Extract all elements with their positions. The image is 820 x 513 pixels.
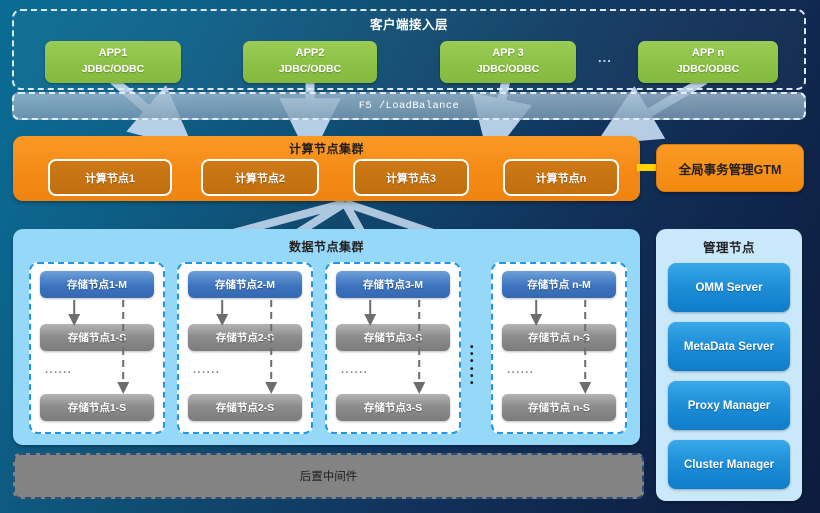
compute-node-3[interactable]: 计算节点3 [353,159,469,196]
data-group-1: 存储节点1-M存储节点1-S存储节点1-S...... [29,262,165,434]
management-node-panel: 管理节点 OMM ServerMetaData ServerProxy Mana… [656,229,802,501]
replication-arrows [179,264,307,432]
data-group-2: 存储节点2-M存储节点2-S存储节点2-S...... [177,262,313,434]
data-group-3: 存储节点3-M存储节点3-S存储节点3-S...... [325,262,461,434]
client-layer-title: 客户端接入层 [14,14,804,33]
app-protocol: JDBC/ODBC [279,62,341,77]
app-box-2[interactable]: APP2JDBC/ODBC [243,41,377,83]
management-panel-title: 管理节点 [656,237,802,256]
replication-arrows [31,264,159,432]
app-box-3[interactable]: APP 3JDBC/ODBC [440,41,576,83]
compute-node-2[interactable]: 计算节点2 [201,159,319,196]
management-item-1[interactable]: OMM Server [668,263,790,312]
compute-node-cluster: 计算节点集群 计算节点1计算节点2计算节点3计算节点n [13,136,640,201]
app-protocol: JDBC/ODBC [82,62,144,77]
app-name: APP n [692,46,724,62]
app-box-4[interactable]: APP nJDBC/ODBC [638,41,778,83]
compute-node-1[interactable]: 计算节点1 [48,159,172,196]
app-name: APP 3 [492,46,524,62]
management-item-2[interactable]: MetaData Server [668,322,790,371]
app-name: APP1 [99,46,128,62]
data-cluster-title: 数据节点集群 [13,238,640,255]
global-transaction-manager-box[interactable]: 全局事务管理GTM [656,144,804,192]
management-item-4[interactable]: Cluster Manager [668,440,790,489]
app-protocol: JDBC/ODBC [477,62,539,77]
data-group-4: 存储节点 n-M存储节点 n-S存储节点 n-S...... [491,262,627,434]
compute-node-4[interactable]: 计算节点n [503,159,619,196]
compute-cluster-title: 计算节点集群 [13,140,640,157]
load-balancer-bar: F5 /LoadBalance [12,92,806,120]
middleware-bar: 后置中间件 [13,453,644,499]
app-box-1[interactable]: APP1JDBC/ODBC [45,41,181,83]
data-node-cluster: 数据节点集群 •••••• 存储节点1-M存储节点1-S存储节点1-S.....… [13,229,640,445]
app-protocol: JDBC/ODBC [677,62,739,77]
replication-arrows [327,264,455,432]
replication-arrows [493,264,621,432]
management-item-3[interactable]: Proxy Manager [668,381,790,430]
architecture-diagram: 客户端接入层 ... F5 /LoadBalance 计算节点集群 计算节点1计… [0,0,820,513]
app-name: APP2 [296,46,325,62]
data-group-ellipsis: •••••• [470,344,474,387]
